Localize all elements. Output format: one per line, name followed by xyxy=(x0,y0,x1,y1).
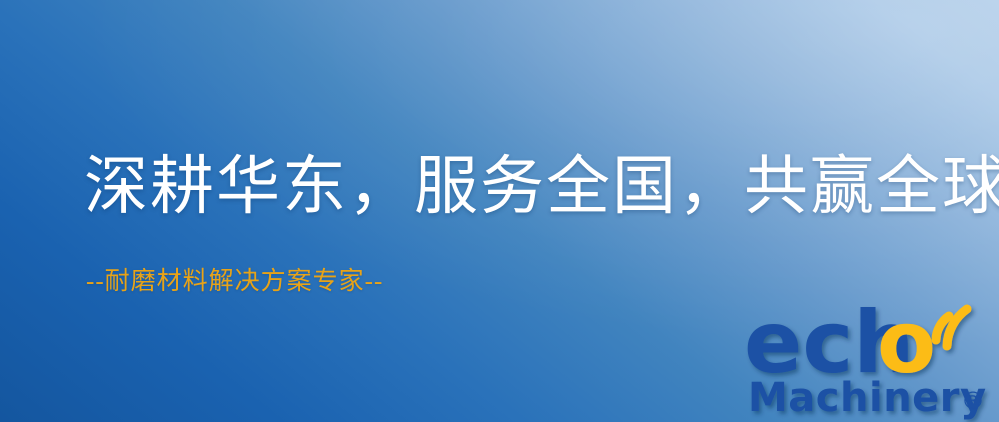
registered-trademark-icon: ® xyxy=(961,387,985,415)
hero-banner: 深耕华东，服务全国，共赢全球 --耐磨材料解决方案专家-- xyxy=(0,0,999,422)
banner-subtitle: --耐磨材料解决方案专家-- xyxy=(86,268,383,296)
banner-headline: 深耕华东，服务全国，共赢全球 xyxy=(84,152,999,221)
echo-machinery-logo[interactable]: ech o Machinery ® xyxy=(744,296,994,418)
logo-tagline: Machinery xyxy=(748,375,987,421)
